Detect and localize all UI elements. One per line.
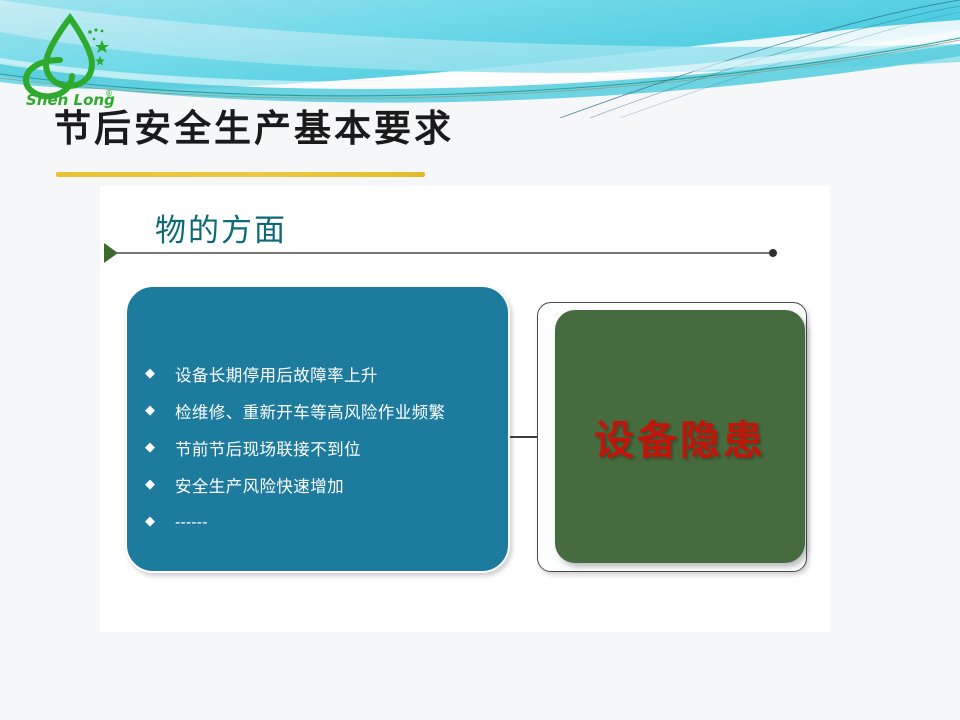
result-box-label: 设备隐患: [594, 408, 766, 466]
list-item: ◆ ------: [145, 503, 496, 540]
title-underline-rule: [56, 172, 425, 177]
slide-canvas: Shen Long ® 节后安全生产基本要求 物的方面 ◆ 设备长期停用后故障率…: [0, 0, 960, 720]
list-item-label: 安全生产风险快速增加: [175, 473, 344, 497]
diamond-bullet-icon: ◆: [145, 367, 167, 380]
diamond-bullet-icon: ◆: [145, 404, 167, 417]
page-title: 节后安全生产基本要求: [54, 98, 454, 152]
arrow-marker: [104, 243, 118, 263]
list-item-label: 设备长期停用后故障率上升: [175, 362, 378, 386]
list-item-label: 检维修、重新开车等高风险作业频繁: [175, 399, 445, 423]
diamond-bullet-icon: ◆: [145, 478, 167, 491]
bullet-list: ◆ 设备长期停用后故障率上升 ◆ 检维修、重新开车等高风险作业频繁 ◆ 节前节后…: [145, 355, 496, 540]
list-item: ◆ 检维修、重新开车等高风险作业频繁: [145, 392, 496, 429]
list-item: ◆ 节前节后现场联接不到位: [145, 429, 496, 466]
list-item: ◆ 设备长期停用后故障率上升: [145, 355, 496, 392]
list-item-label: 节前节后现场联接不到位: [175, 436, 361, 460]
hazard-cause-box: ◆ 设备长期停用后故障率上升 ◆ 检维修、重新开车等高风险作业频繁 ◆ 节前节后…: [125, 285, 510, 573]
shen-long-logo: Shen Long ®: [16, 12, 120, 108]
diamond-bullet-icon: ◆: [145, 515, 167, 528]
list-item: ◆ 安全生产风险快速增加: [145, 466, 496, 503]
result-box: 设备隐患: [555, 310, 805, 563]
connector-line: [510, 436, 538, 438]
logo-trademark: ®: [105, 89, 113, 98]
list-item-label: ------: [175, 513, 207, 531]
diamond-bullet-icon: ◆: [145, 441, 167, 454]
rule-end-dot: [769, 249, 777, 257]
section-divider-rule: [104, 242, 784, 264]
